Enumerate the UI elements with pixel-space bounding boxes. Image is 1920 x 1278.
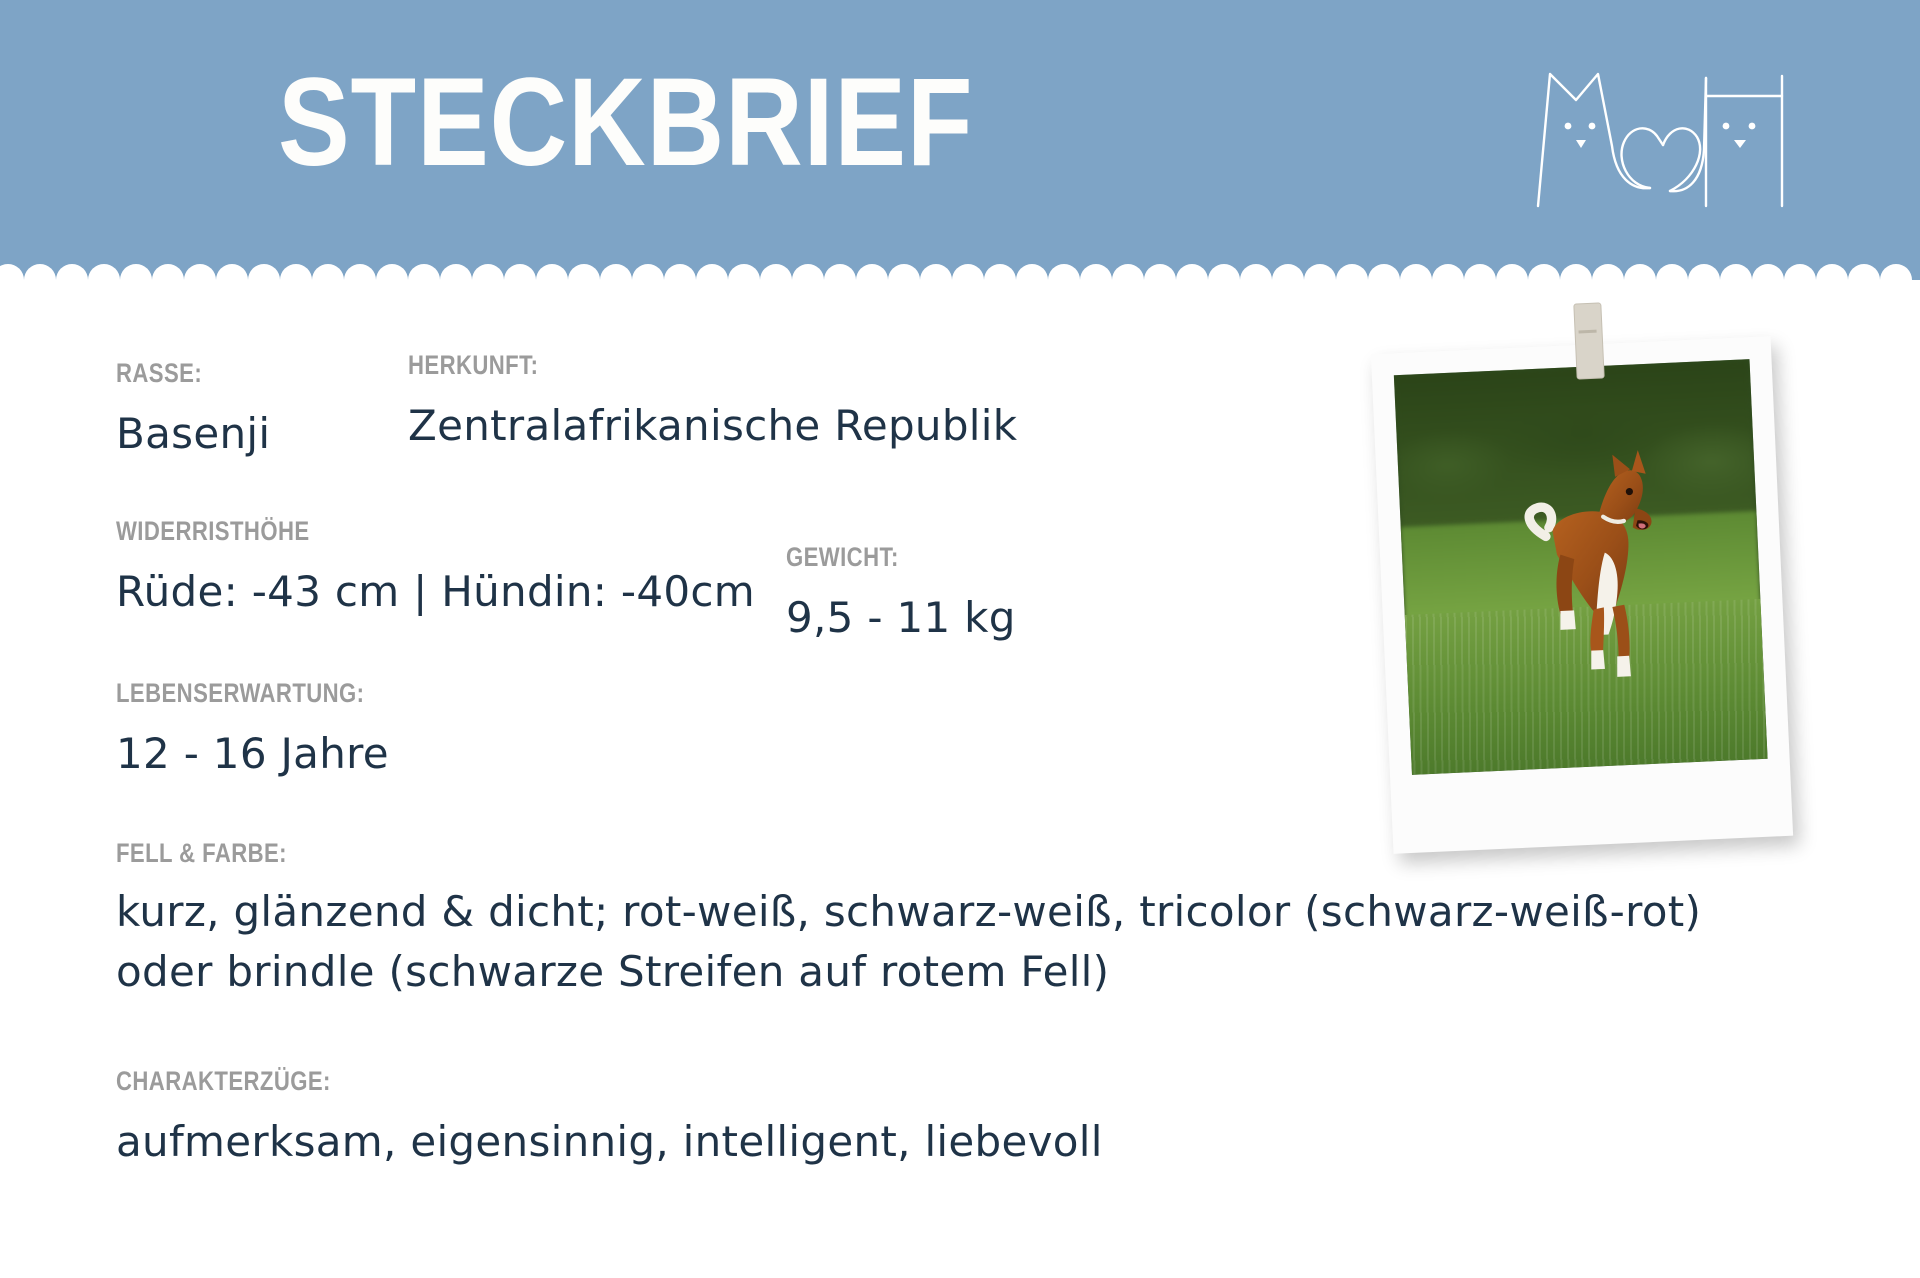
field-lebenserwartung: LEBENSERWARTUNG: <box>116 678 419 709</box>
value-lebenserwartung-wrap: 12 - 16 Jahre <box>116 724 389 784</box>
field-rasse: RASSE: <box>116 358 221 389</box>
field-herkunft: HERKUNFT: <box>408 350 567 381</box>
photo-area <box>1382 345 1802 865</box>
wooden-clip-icon <box>1573 302 1604 379</box>
field-gewicht: GEWICHT: <box>786 542 923 573</box>
field-fell-farbe: FELL & FARBE: <box>116 838 325 869</box>
label-rasse: RASSE: <box>116 358 202 389</box>
value-charakterzuege-wrap: aufmerksam, eigensinnig, intelligent, li… <box>116 1112 1103 1172</box>
value-widerristhoehe: Rüde: -43 cm | Hündin: -40cm <box>116 562 755 622</box>
basenji-photo <box>1394 359 1768 775</box>
scalloped-divider <box>0 262 1920 296</box>
value-rasse: Basenji <box>116 404 270 464</box>
value-herkunft: Zentralafrikanische Republik <box>408 396 1017 456</box>
value-herkunft-wrap: Zentralafrikanische Republik <box>408 396 1017 456</box>
label-charakterzuege: CHARAKTERZÜGE: <box>116 1066 331 1097</box>
value-gewicht-wrap: 9,5 - 11 kg <box>786 588 1016 648</box>
label-fell-farbe: FELL & FARBE: <box>116 838 287 869</box>
value-gewicht: 9,5 - 11 kg <box>786 588 1016 648</box>
field-widerristhoehe: WIDERRISTHÖHE <box>116 516 352 547</box>
label-gewicht: GEWICHT: <box>786 542 899 573</box>
label-herkunft: HERKUNFT: <box>408 350 538 381</box>
value-fell-farbe-line1: kurz, glänzend & dicht; rot-weiß, schwar… <box>116 882 1701 942</box>
value-rasse-wrap: Basenji <box>116 404 270 464</box>
field-charakterzuege: CHARAKTERZÜGE: <box>116 1066 378 1097</box>
card-header: STECKBRIEF <box>0 0 1920 278</box>
basenji-dog-illustration <box>1503 407 1689 742</box>
steckbrief-card: STECKBRIEF <box>0 0 1920 1278</box>
label-lebenserwartung: LEBENSERWARTUNG: <box>116 678 364 709</box>
value-lebenserwartung: 12 - 16 Jahre <box>116 724 389 784</box>
value-widerristhoehe-wrap: Rüde: -43 cm | Hündin: -40cm <box>116 562 755 622</box>
polaroid-frame[interactable] <box>1371 336 1793 854</box>
label-widerristhoehe: WIDERRISTHÖHE <box>116 516 310 547</box>
page-title: STECKBRIEF <box>278 60 973 185</box>
value-fell-farbe-wrap: kurz, glänzend & dicht; rot-weiß, schwar… <box>116 882 1701 1002</box>
cat-dog-heart-logo <box>1520 38 1810 208</box>
value-charakterzuege: aufmerksam, eigensinnig, intelligent, li… <box>116 1112 1103 1172</box>
value-fell-farbe-line2: oder brindle (schwarze Streifen auf rote… <box>116 942 1701 1002</box>
